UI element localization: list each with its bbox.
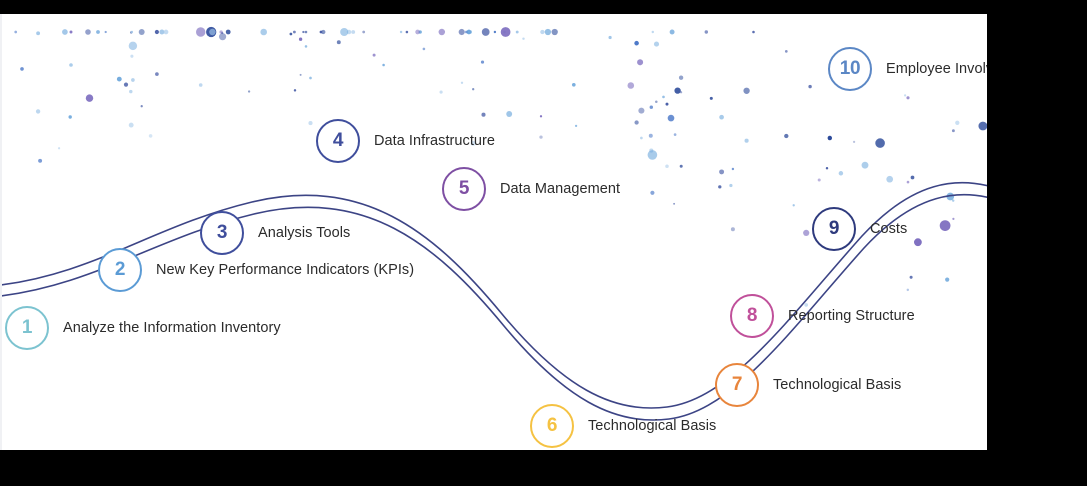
node-8[interactable]: 8Reporting Structure	[730, 294, 915, 338]
node-3[interactable]: 3Analysis Tools	[200, 211, 350, 255]
node-5-label: Data Management	[500, 181, 620, 197]
screenshot-canvas: 1Analyze the Information Inventory2New K…	[0, 0, 1087, 486]
node-2-label: New Key Performance Indicators (KPIs)	[156, 262, 414, 278]
node-5-badge[interactable]: 5	[442, 167, 486, 211]
node-10[interactable]: 10Employee Involvement	[828, 47, 987, 91]
node-6-badge[interactable]: 6	[530, 404, 574, 448]
node-9-badge[interactable]: 9	[812, 207, 856, 251]
node-4[interactable]: 4Data Infrastructure	[316, 119, 495, 163]
node-9[interactable]: 9Costs	[812, 207, 907, 251]
node-4-badge[interactable]: 4	[316, 119, 360, 163]
node-3-label: Analysis Tools	[258, 225, 350, 241]
node-4-label: Data Infrastructure	[374, 133, 495, 149]
node-3-badge[interactable]: 3	[200, 211, 244, 255]
node-1-label: Analyze the Information Inventory	[63, 320, 281, 336]
node-8-badge[interactable]: 8	[730, 294, 774, 338]
node-10-badge[interactable]: 10	[828, 47, 872, 91]
node-7[interactable]: 7Technological Basis	[715, 363, 901, 407]
node-1-badge[interactable]: 1	[5, 306, 49, 350]
node-5[interactable]: 5Data Management	[442, 167, 620, 211]
node-6-label: Technological Basis	[588, 418, 716, 434]
infographic-panel: 1Analyze the Information Inventory2New K…	[0, 14, 987, 450]
node-1[interactable]: 1Analyze the Information Inventory	[5, 306, 281, 350]
node-6[interactable]: 6Technological Basis	[530, 404, 716, 448]
node-7-badge[interactable]: 7	[715, 363, 759, 407]
node-10-label: Employee Involvement	[886, 61, 987, 77]
node-8-label: Reporting Structure	[788, 308, 915, 324]
node-7-label: Technological Basis	[773, 377, 901, 393]
node-2-badge[interactable]: 2	[98, 248, 142, 292]
node-9-label: Costs	[870, 221, 907, 237]
